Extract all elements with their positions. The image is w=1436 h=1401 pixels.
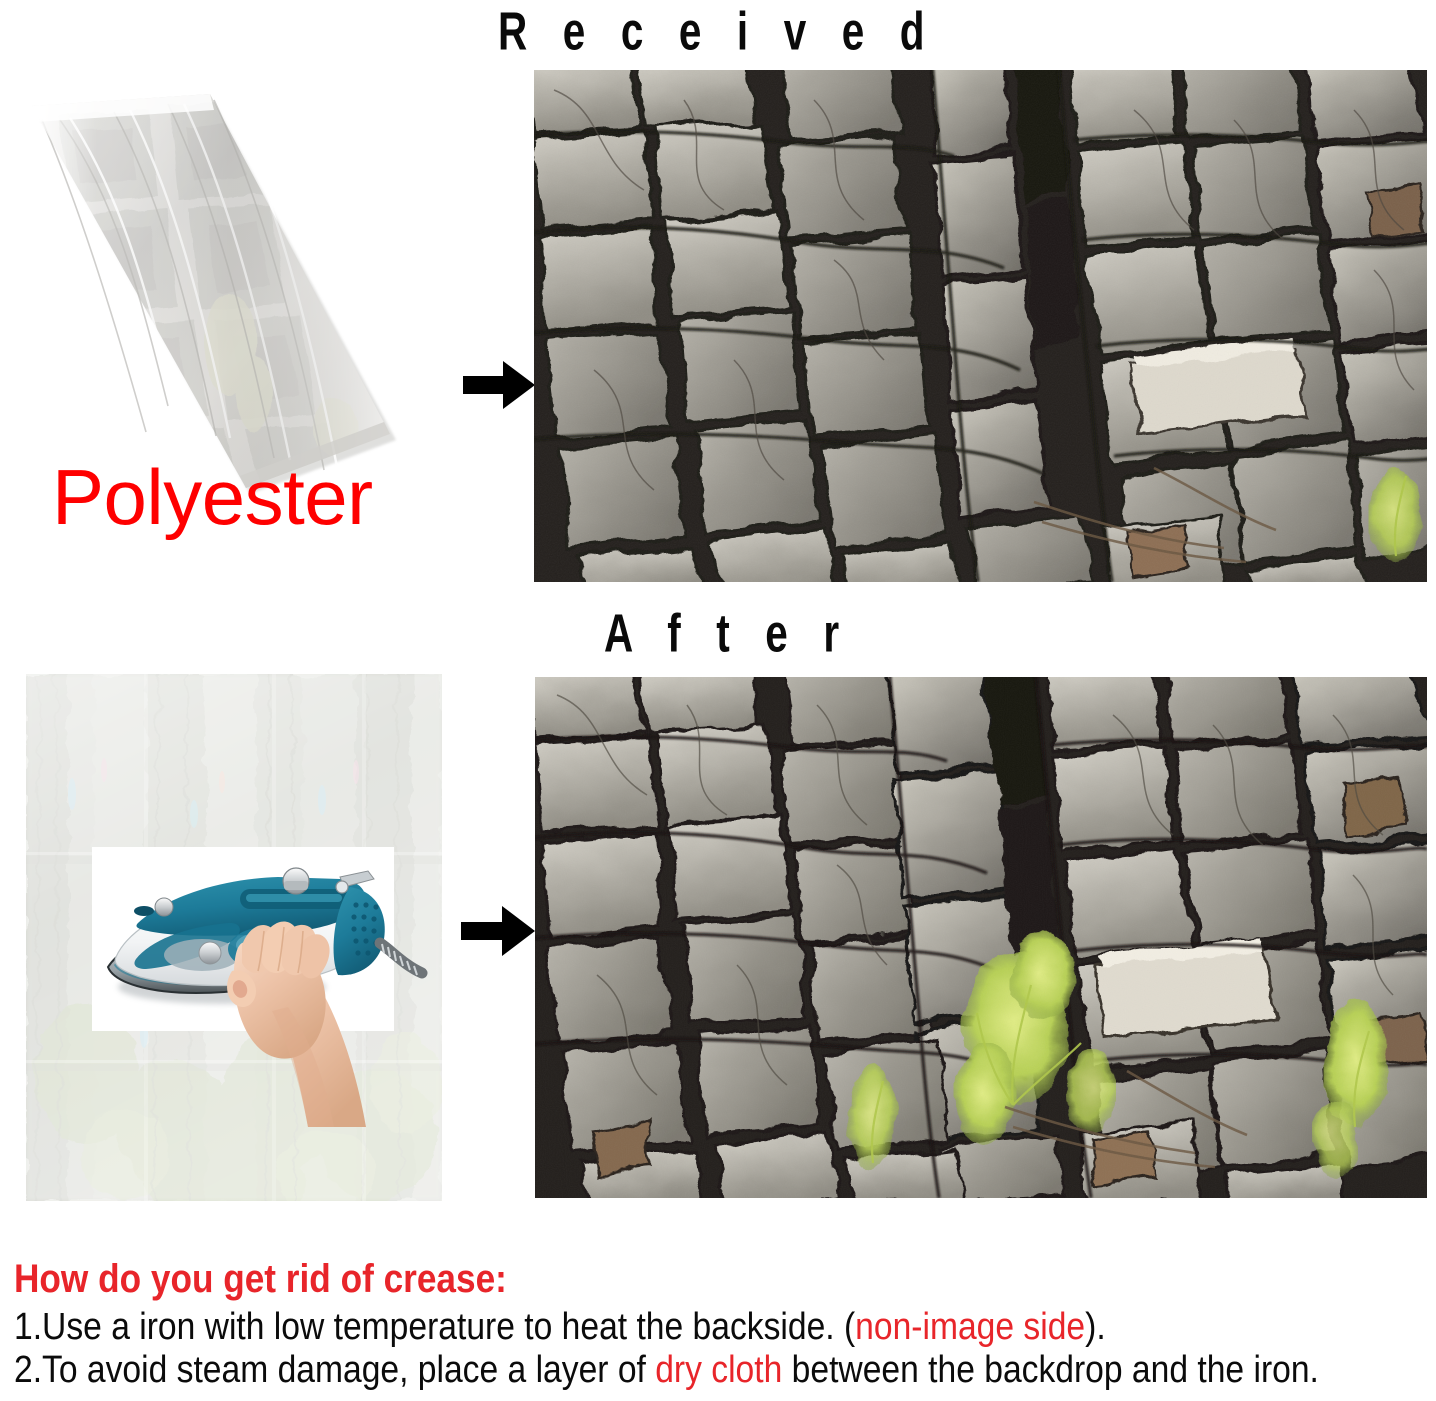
crease-heading: How do you get rid of crease: [14,1258,1264,1300]
instruction-line-1: 1.Use a iron with low temperature to hea… [14,1306,1271,1349]
received-photo [534,70,1427,582]
after-heading: A f t e r [604,604,851,665]
instruction-line-2: 2.To avoid steam damage, place a layer o… [14,1349,1271,1392]
right-arrow-icon [463,358,535,412]
instruction-1-before: 1.Use a iron with low temperature to hea… [14,1306,855,1348]
received-heading: R e c e i v e d [498,2,937,63]
instruction-1-highlight: non-image side [855,1306,1085,1348]
instruction-1-after: ). [1085,1306,1106,1348]
after-photo [535,677,1427,1198]
right-arrow-icon [461,903,535,959]
instruction-2-before: 2.To avoid steam damage, place a layer o… [14,1349,655,1391]
instructions-block: How do you get rid of crease: 1.Use a ir… [14,1258,1434,1391]
instruction-2-after: between the backdrop and the iron. [782,1349,1319,1391]
folded-fabric-image [18,76,448,496]
polyester-label: Polyester [52,458,373,536]
instruction-2-highlight: dry cloth [655,1349,782,1391]
iron-with-hand-image [92,847,394,1031]
